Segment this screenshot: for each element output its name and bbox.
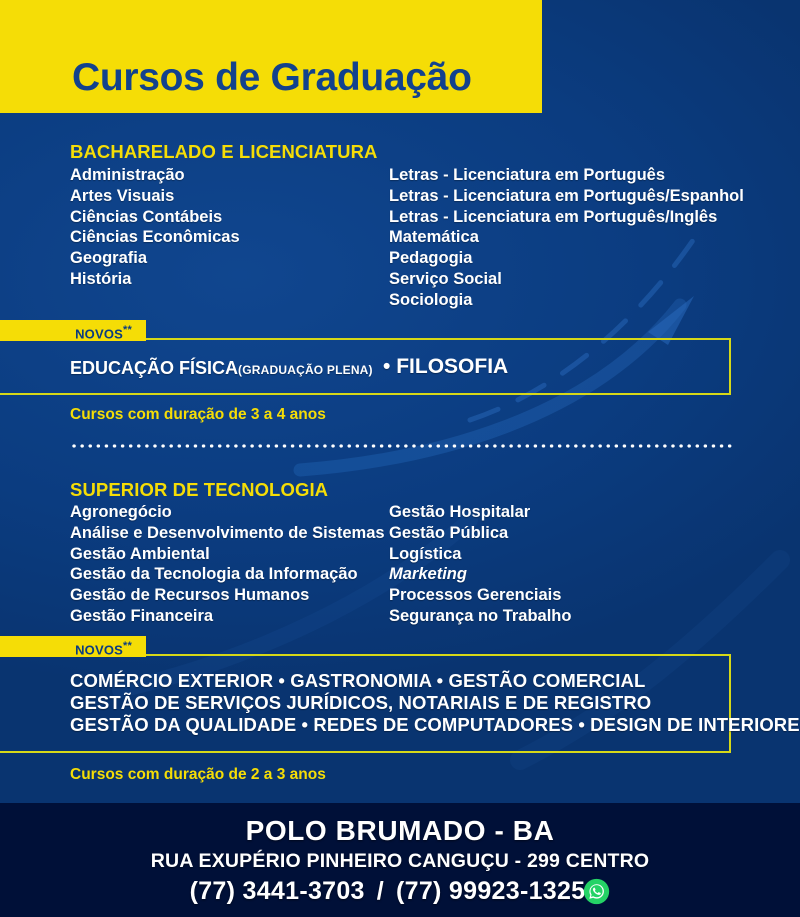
list-item: Administração xyxy=(70,165,240,186)
list-item: Gestão da Tecnologia da Informação xyxy=(70,564,385,585)
list-item: Gestão Financeira xyxy=(70,606,385,627)
list-item: Ciências Econômicas xyxy=(70,227,240,248)
novos-item-note: (GRADUAÇÃO PLENA) xyxy=(238,363,373,377)
list-item: Segurança no Trabalho xyxy=(389,606,571,627)
list-item: Gestão de Recursos Humanos xyxy=(70,585,385,606)
footer: POLO BRUMADO - BA RUA EXUPÉRIO PINHEIRO … xyxy=(0,803,800,917)
novos-item-name: EDUCAÇÃO FÍSICA xyxy=(70,358,238,378)
novos-tab-tecnologia: NOVOS** xyxy=(0,636,146,657)
page-title: Cursos de Graduação xyxy=(72,56,472,100)
footer-phones: (77) 3441-3703 / (77) 99923-1325 xyxy=(0,877,800,906)
list-item: Análise e Desenvolvimento de Sistemas xyxy=(70,523,385,544)
course-list-tecnologia-left: Agronegócio Análise e Desenvolvimento de… xyxy=(70,502,385,627)
duration-note-tecnologia: Cursos com duração de 2 a 3 anos xyxy=(70,766,326,784)
course-list-tecnologia-right: Gestão Hospitalar Gestão Pública Logísti… xyxy=(389,502,571,627)
list-item: Pedagogia xyxy=(389,248,744,269)
course-list-bacharelado-right: Letras - Licenciatura em Português Letra… xyxy=(389,165,744,311)
phone-primary[interactable]: (77) 3441-3703 xyxy=(190,877,365,906)
list-item: Sociologia xyxy=(389,290,744,311)
section-heading-bacharelado: BACHARELADO E LICENCIATURA xyxy=(70,141,378,163)
bullet-icon: • xyxy=(383,355,390,378)
list-item: Letras - Licenciatura em Português xyxy=(389,165,744,186)
list-item: História xyxy=(70,269,240,290)
novos-item-filosofia: • FILOSOFIA xyxy=(383,355,508,379)
novos-tab-label: NOVOS xyxy=(75,326,123,341)
graduation-courses-poster: Cursos de Graduação BACHARELADO E LICENC… xyxy=(0,0,800,917)
novos-item-educacao-fisica: EDUCAÇÃO FÍSICA(GRADUAÇÃO PLENA) xyxy=(70,358,373,379)
list-item: Gestão Hospitalar xyxy=(389,502,571,523)
novos-line-1: COMÉRCIO EXTERIOR • GASTRONOMIA • GESTÃO… xyxy=(70,670,645,692)
novos-item-name: FILOSOFIA xyxy=(396,355,508,378)
list-item: Gestão Ambiental xyxy=(70,544,385,565)
whatsapp-icon[interactable] xyxy=(583,878,610,905)
phone-whatsapp[interactable]: (77) 99923-1325 xyxy=(396,877,585,906)
phone-separator: / xyxy=(365,877,396,906)
dotted-divider xyxy=(70,444,732,448)
footer-polo-name: POLO BRUMADO - BA xyxy=(0,815,800,847)
list-item: Agronegócio xyxy=(70,502,385,523)
list-item: Geografia xyxy=(70,248,240,269)
list-item: Letras - Licenciatura em Português/Espan… xyxy=(389,186,744,207)
course-list-bacharelado-left: Administração Artes Visuais Ciências Con… xyxy=(70,165,240,290)
novos-tab-label: NOVOS xyxy=(75,642,123,657)
duration-note-bacharelado: Cursos com duração de 3 a 4 anos xyxy=(70,406,326,424)
list-item: Artes Visuais xyxy=(70,186,240,207)
novos-line-2: GESTÃO DE SERVIÇOS JURÍDICOS, NOTARIAIS … xyxy=(70,692,651,714)
section-heading-tecnologia: SUPERIOR DE TECNOLOGIA xyxy=(70,479,328,501)
list-item: Processos Gerenciais xyxy=(389,585,571,606)
list-item: Marketing xyxy=(389,564,571,585)
list-item: Serviço Social xyxy=(389,269,744,290)
list-item: Letras - Licenciatura em Português/Inglê… xyxy=(389,207,744,228)
novos-tab-asterisks: ** xyxy=(123,324,132,336)
list-item: Matemática xyxy=(389,227,744,248)
footer-address: RUA EXUPÉRIO PINHEIRO CANGUÇU - 299 CENT… xyxy=(0,850,800,873)
list-item: Logística xyxy=(389,544,571,565)
list-item: Gestão Pública xyxy=(389,523,571,544)
novos-line-3: GESTÃO DA QUALIDADE • REDES DE COMPUTADO… xyxy=(70,714,800,736)
list-item: Ciências Contábeis xyxy=(70,207,240,228)
novos-tab-bacharelado: NOVOS** xyxy=(0,320,146,341)
novos-tab-asterisks: ** xyxy=(123,640,132,652)
